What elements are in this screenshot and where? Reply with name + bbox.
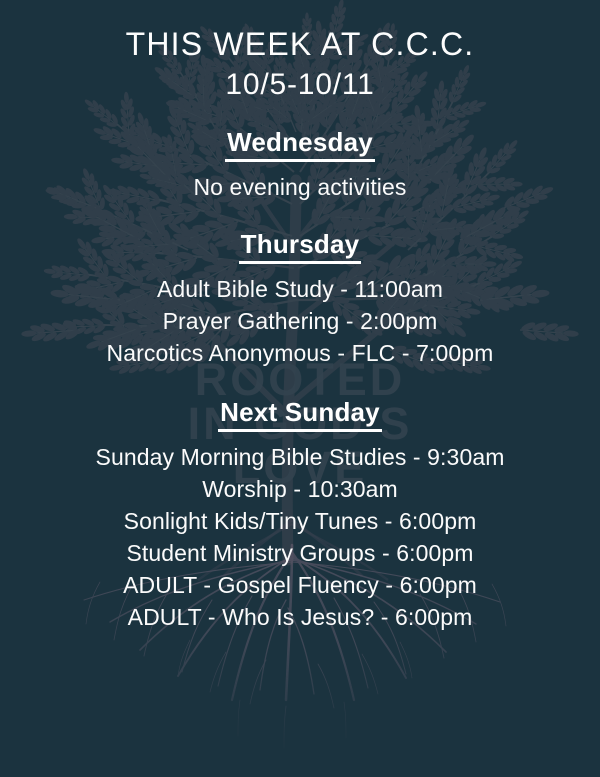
event-item: Prayer Gathering - 2:00pm: [0, 305, 600, 337]
event-item: Narcotics Anonymous - FLC - 7:00pm: [0, 337, 600, 369]
day-heading-next-sunday: Next Sunday: [218, 397, 382, 432]
section-next-sunday: Next Sunday Sunday Morning Bible Studies…: [0, 397, 600, 633]
event-item: No evening activities: [0, 171, 600, 203]
poster-content: THIS WEEK AT C.C.C. 10/5-10/11 Wednesday…: [0, 0, 600, 633]
section-thursday: Thursday Adult Bible Study - 11:00am Pra…: [0, 229, 600, 369]
day-heading-wednesday: Wednesday: [225, 127, 375, 162]
page-title: THIS WEEK AT C.C.C.: [0, 26, 600, 64]
section-wednesday: Wednesday No evening activities: [0, 127, 600, 203]
title-block: THIS WEEK AT C.C.C. 10/5-10/11: [0, 0, 600, 103]
event-item: Sunday Morning Bible Studies - 9:30am: [0, 441, 600, 473]
event-item: Adult Bible Study - 11:00am: [0, 273, 600, 305]
day-heading-thursday: Thursday: [239, 229, 362, 264]
event-item: Sonlight Kids/Tiny Tunes - 6:00pm: [0, 505, 600, 537]
event-item: ADULT - Gospel Fluency - 6:00pm: [0, 569, 600, 601]
poster-canvas: ROOTED IN GOD'S LOVE THIS WEEK AT C.C.C.…: [0, 0, 600, 777]
event-item: Student Ministry Groups - 6:00pm: [0, 537, 600, 569]
date-range: 10/5-10/11: [0, 67, 600, 103]
event-item: Worship - 10:30am: [0, 473, 600, 505]
event-item: ADULT - Who Is Jesus? - 6:00pm: [0, 601, 600, 633]
